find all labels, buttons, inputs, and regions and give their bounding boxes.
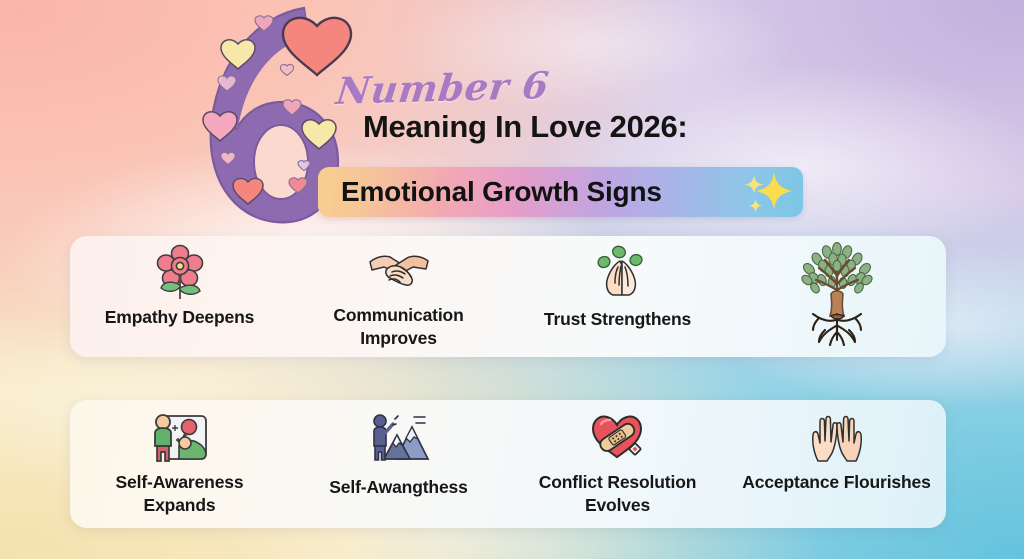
sign-card-label: Empathy Deepens: [105, 306, 254, 329]
flower-icon: [149, 244, 211, 300]
subtitle-text: Emotional Growth Signs: [341, 176, 662, 208]
tree-with-roots-icon: [789, 242, 885, 346]
sign-card-self-awareness-expands[interactable]: Self-Awareness Expands: [70, 400, 289, 528]
sign-card-label: Communication Improves: [304, 304, 494, 350]
open-hands-icon: [806, 409, 868, 467]
page-title: Meaning In Love 2026:: [363, 109, 687, 145]
sign-card-communication-improves[interactable]: Communication Improves: [289, 236, 508, 357]
subtitle-pill: Emotional Growth Signs: [318, 167, 803, 217]
sign-card-label: Self-Awangthess: [329, 476, 467, 499]
sign-card-label: Acceptance Flourishes: [742, 471, 930, 494]
eyebrow-script-text: Number 6: [334, 63, 551, 113]
sign-card-label: Trust Strengthens: [544, 308, 691, 331]
sign-card-conflict-resolution-evolves[interactable]: Conflict Resolution Evolves: [508, 400, 727, 528]
sign-card-empathy-deepens[interactable]: Empathy Deepens: [70, 236, 289, 357]
bandaged-heart-icon: [587, 409, 649, 467]
sign-card-acceptance-flourishes[interactable]: Acceptance Flourishes: [727, 400, 946, 528]
sign-card-self-awangthess[interactable]: Self-Awangthess: [289, 400, 508, 528]
sign-card-label: Conflict Resolution Evolves: [523, 471, 713, 517]
mountain-climber-icon: [368, 409, 430, 467]
signs-panel-row-2: Self-Awareness Expands: [70, 400, 946, 528]
header: Number 6 Meaning In Love 2026: Emotional…: [0, 0, 1024, 236]
sign-card-trust-strengthens[interactable]: Trust Strengthens: [508, 236, 727, 357]
people-reflection-icon: [149, 409, 211, 467]
handshake-icon: [368, 244, 430, 300]
sign-card-label: Self-Awareness Expands: [85, 471, 275, 517]
sparkles-icon: [743, 169, 795, 215]
signs-panel-row-1: Empathy Deepens Communication Improves: [70, 236, 946, 357]
infographic-canvas: Number 6 Meaning In Love 2026: Emotional…: [0, 0, 1024, 559]
praying-hands-leaves-icon: [590, 244, 652, 300]
sign-card-tree[interactable]: [727, 236, 946, 357]
